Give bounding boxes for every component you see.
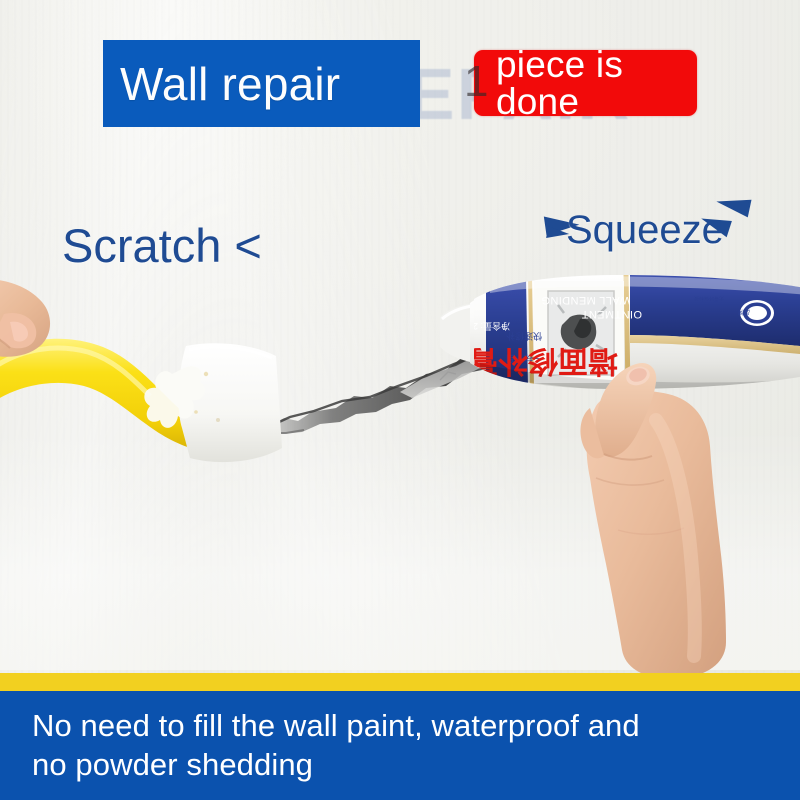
callout-squeeze: Squeeze xyxy=(566,210,724,250)
tube-brand-mark: 品牌 xyxy=(738,308,750,316)
footer-text: No need to fill the wall paint, waterpro… xyxy=(32,706,772,784)
svg-text:快速修补: 快速修补 xyxy=(506,331,542,342)
svg-text:无毒环保科技: 无毒环保科技 xyxy=(694,295,724,302)
headline-banner-primary: Wall repair xyxy=(103,40,420,127)
headline-leading-number: 1 xyxy=(464,57,488,107)
footer-banner: No need to fill the wall paint, waterpro… xyxy=(0,691,800,800)
callout-scratch: Scratch < xyxy=(62,222,262,269)
tube-name-en: WALL MENDING xyxy=(541,294,630,306)
footer-line-1: No need to fill the wall paint, waterpro… xyxy=(32,706,772,745)
headline-primary-text: Wall repair xyxy=(103,61,340,107)
advertisement-image: WALL REPAIR xyxy=(0,0,800,800)
headline-banner-secondary: piece is done xyxy=(474,50,697,116)
headline-secondary-text: piece is done xyxy=(474,46,697,120)
svg-text:OINTMENT: OINTMENT xyxy=(581,308,642,320)
right-hand-holding-tube xyxy=(560,350,800,680)
left-hand-holding-scraper xyxy=(0,280,130,420)
footer-line-2: no powder shedding xyxy=(32,745,772,784)
footer-accent-bar xyxy=(0,673,800,691)
